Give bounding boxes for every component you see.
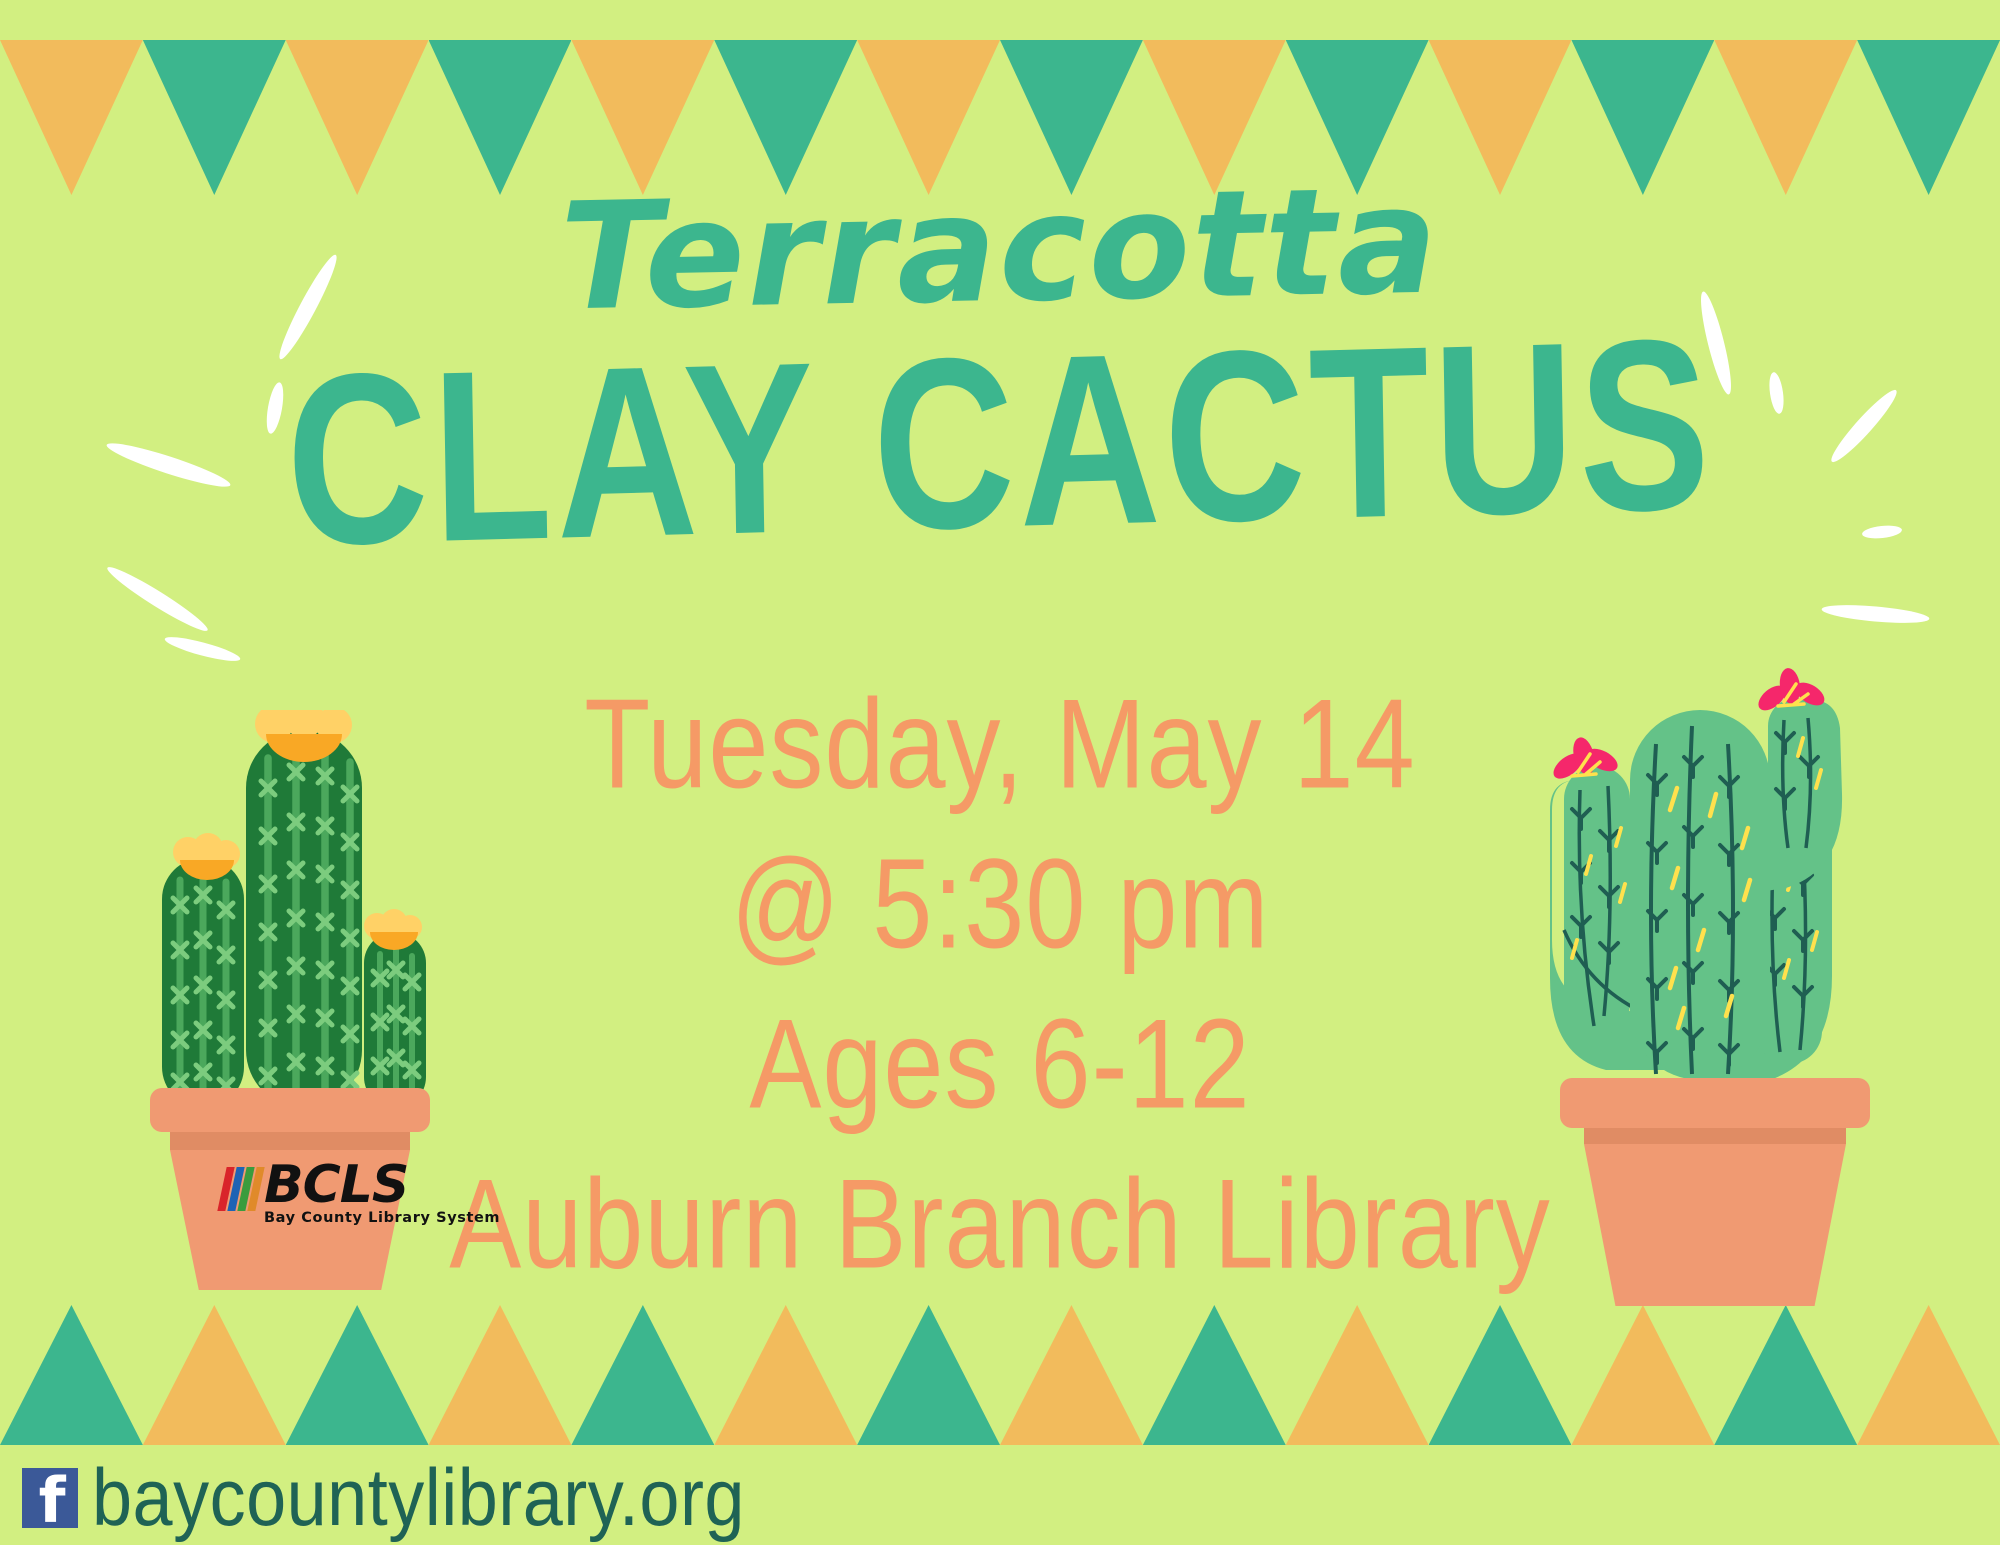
event-ages: Ages 6-12: [0, 1000, 2000, 1127]
bunting-pennant: [1000, 1305, 1143, 1445]
bunting-pennant: [286, 40, 429, 195]
bunting-pennant: [1143, 1305, 1286, 1445]
bunting-pennant: [1429, 1305, 1572, 1445]
sparkle-ray: [1821, 602, 1930, 626]
bunting-pennant: [1857, 1305, 2000, 1445]
event-flyer: Terracotta CLAY CACTUS Tuesday, May 14 @…: [0, 0, 2000, 1545]
footer: f baycountylibrary.org: [22, 1457, 745, 1539]
bunting-pennant: [429, 40, 572, 195]
bcls-subtitle: Bay County Library System: [264, 1210, 500, 1226]
sparkle-ray: [163, 633, 242, 666]
bunting-bottom: [0, 1305, 2000, 1445]
headline-group: Terracotta CLAY CACTUS: [0, 175, 2000, 541]
bunting-pennant: [714, 1305, 857, 1445]
facebook-icon[interactable]: f: [22, 1468, 78, 1528]
facebook-f-glyph: f: [39, 1470, 66, 1532]
bunting-pennant: [1571, 1305, 1714, 1445]
bunting-pennant: [286, 1305, 429, 1445]
bunting-pennant: [429, 1305, 572, 1445]
bunting-pennant: [1714, 1305, 1857, 1445]
bunting-pennant: [143, 1305, 286, 1445]
website-url[interactable]: baycountylibrary.org: [92, 1452, 745, 1544]
bunting-pennant: [857, 1305, 1000, 1445]
bunting-pennant: [571, 1305, 714, 1445]
bcls-color-bars: [222, 1163, 260, 1211]
bunting-pennant: [0, 40, 143, 195]
bunting-pennant: [0, 1305, 143, 1445]
bunting-pennant: [1286, 1305, 1429, 1445]
title-main: CLAY CACTUS: [0, 296, 2000, 591]
event-time: @ 5:30 pm: [0, 840, 2000, 967]
bcls-logo: BCLS Bay County Library System: [222, 1163, 500, 1226]
bcls-wordmark: BCLS: [264, 1163, 500, 1208]
bunting-pennant: [143, 40, 286, 195]
event-date: Tuesday, May 14: [0, 680, 2000, 807]
